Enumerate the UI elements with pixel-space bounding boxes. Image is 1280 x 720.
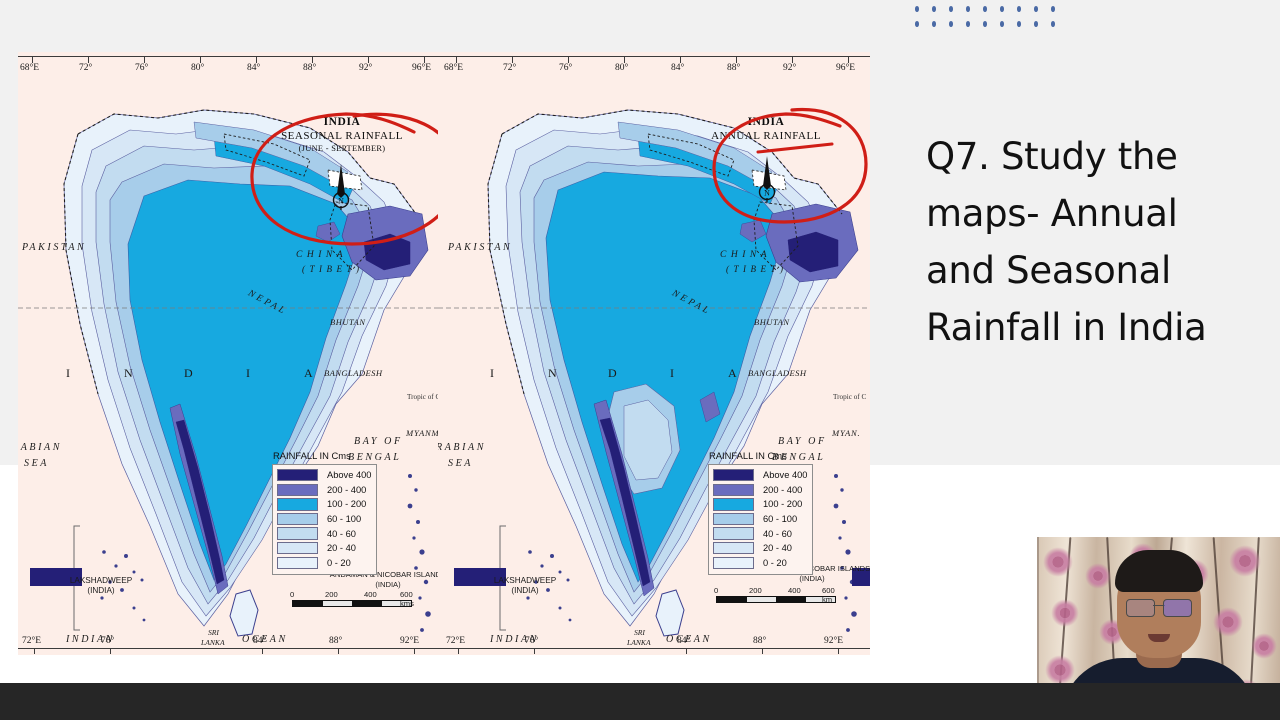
label-sri: SRI <box>208 628 219 637</box>
r-label-india-i1: I <box>490 366 494 381</box>
lon-label-96e: 96°E <box>412 63 431 73</box>
andaman-country: (INDIA) <box>308 580 438 590</box>
label-india-d: D <box>184 366 193 381</box>
label-bay-of: BAY OF <box>354 436 403 447</box>
r-legend-title: RAINFALL IN Cms <box>708 450 813 461</box>
lon-label-80: 80° <box>191 63 204 73</box>
lon-label-84: 84° <box>247 63 260 73</box>
legend-swatch-200-400 <box>277 484 318 496</box>
legend-swatch-60-100 <box>277 513 318 525</box>
r-label-arabian: RABIAN <box>438 442 486 453</box>
legend-seasonal: RAINFALL IN Cms Above 400 200 - 400 100 … <box>272 450 377 575</box>
presentation-screen: Q7. Study the maps- Annual and Seasonal … <box>0 0 1280 720</box>
svg-text:N: N <box>338 197 344 206</box>
annual-rainfall-map: 68°E 72° 76° 80° 84° 88° 92° 96°E <box>438 52 870 655</box>
legend-swatch-40-60 <box>277 527 318 539</box>
lon-label-92: 92° <box>359 63 372 73</box>
scale-bar-seasonal: 0 200 400 600 kms <box>292 590 412 607</box>
map-bottom-border <box>18 648 438 649</box>
r-label-tibet: (TIBET) <box>726 264 788 274</box>
r-label-bay-of: BAY OF <box>778 436 827 447</box>
r-label-india-i2: I <box>670 366 674 381</box>
r-legend-label-40-60: 40 - 60 <box>763 529 792 539</box>
lakshadweep-label: LAKSHADWEEP (INDIA) <box>46 576 156 596</box>
r-legend-swatch-above-400 <box>713 469 754 481</box>
label-tropic-of-cancer: Tropic of C <box>407 393 438 401</box>
scale-tick-200: 200 <box>325 590 338 599</box>
r-label-tropic-of-cancer: Tropic of C <box>833 393 866 401</box>
bot-lon-84: 84° <box>253 636 266 646</box>
r-label-pakistan: PAKISTAN <box>448 242 512 253</box>
r-label-bhutan: BHUTAN <box>754 318 790 327</box>
legend-label-above-400: Above 400 <box>327 470 371 480</box>
right-map-title-line1: INDIA <box>696 116 836 128</box>
legend-label-20-40: 20 - 40 <box>327 543 356 553</box>
legend-label-60-100: 60 - 100 <box>327 514 361 524</box>
label-bhutan: BHUTAN <box>330 318 366 327</box>
right-map-title: INDIA ANNUAL RAINFALL <box>696 116 836 142</box>
label-india-n: N <box>124 366 133 381</box>
bot-lon-76: 76° <box>101 636 114 646</box>
r-lon-label-68e: 68°E <box>444 63 463 73</box>
legend-swatch-100-200 <box>277 498 318 510</box>
north-arrow-icon-right: N <box>756 156 778 202</box>
map-top-border-right <box>438 56 870 57</box>
r-legend-label-20-40: 20 - 40 <box>763 543 792 553</box>
label-lanka: LANKA <box>201 638 225 647</box>
bot-lon-88: 88° <box>329 636 342 646</box>
lon-label-88: 88° <box>303 63 316 73</box>
seasonal-rainfall-map: 68°E 72° 76° 80° 84° 88° 92° 96°E <box>18 52 438 655</box>
map-top-border <box>18 56 438 57</box>
lakshadweep-country: (INDIA) <box>46 586 156 596</box>
r-label-india-n: N <box>548 366 557 381</box>
legend-title: RAINFALL IN Cms <box>272 450 377 461</box>
question-text: Q7. Study the maps- Annual and Seasonal … <box>926 128 1256 356</box>
r-bot-lon-76: 76° <box>525 636 538 646</box>
north-arrow-icon: N <box>330 164 352 210</box>
label-china: CHINA <box>296 250 347 260</box>
scale-bar-annual: 0 200 400 600 km <box>716 586 836 603</box>
legend-swatch-above-400 <box>277 469 318 481</box>
map-bottom-border-right <box>438 648 870 649</box>
lon-label-76: 76° <box>135 63 148 73</box>
glasses-icon <box>1126 599 1192 616</box>
left-map-title-line1: INDIA <box>272 116 412 128</box>
r-legend-swatch-0-20 <box>713 557 754 569</box>
legend-label-40-60: 40 - 60 <box>327 529 356 539</box>
label-sea: SEA <box>24 458 49 469</box>
scale-tick-0: 0 <box>290 590 294 599</box>
r-label-india-a: A <box>728 366 737 381</box>
r-scale-tick-0: 0 <box>714 586 718 595</box>
r-lon-label-76: 76° <box>559 63 572 73</box>
r-legend-swatch-200-400 <box>713 484 754 496</box>
r-lon-label-88: 88° <box>727 63 740 73</box>
r-label-lanka: LANKA <box>627 638 651 647</box>
r-legend-label-0-20: 0 - 20 <box>763 558 787 568</box>
r-legend-swatch-60-100 <box>713 513 754 525</box>
scale-tick-600: 600 kms <box>400 590 414 608</box>
left-map-title-line3: (JUNE - SEPTEMBER) <box>272 144 412 153</box>
r-lon-label-96e: 96°E <box>836 63 855 73</box>
r-lakshadweep-country: (INDIA) <box>470 586 580 596</box>
r-lon-label-84: 84° <box>671 63 684 73</box>
label-bangladesh: BANGLADESH <box>324 368 382 378</box>
r-legend-swatch-100-200 <box>713 498 754 510</box>
r-legend-swatch-40-60 <box>713 527 754 539</box>
left-map-title: INDIA SEASONAL RAINFALL (JUNE - SEPTEMBE… <box>272 116 412 153</box>
r-lon-label-72: 72° <box>503 63 516 73</box>
r-label-sea: SEA <box>448 458 473 469</box>
r-bot-lon-92e: 92°E <box>824 636 843 646</box>
r-lon-label-92: 92° <box>783 63 796 73</box>
r-label-india-d: D <box>608 366 617 381</box>
r-label-china: CHINA <box>720 250 771 260</box>
r-label-sri: SRI <box>634 628 645 637</box>
label-india-a: A <box>304 366 313 381</box>
left-map-title-line2: SEASONAL RAINFALL <box>272 130 412 142</box>
r-legend-label-60-100: 60 - 100 <box>763 514 797 524</box>
lon-label-68e: 68°E <box>20 63 39 73</box>
r-scale-tick-200: 200 <box>749 586 762 595</box>
r-scale-tick-600: 600 km <box>822 586 836 604</box>
legend-swatch-20-40 <box>277 542 318 554</box>
r-legend-label-100-200: 100 - 200 <box>763 499 802 509</box>
bot-lon-72e: 72°E <box>22 636 41 646</box>
r-lakshadweep-name: LAKSHADWEEP <box>470 576 580 586</box>
lon-label-72: 72° <box>79 63 92 73</box>
legend-swatch-0-20 <box>277 557 318 569</box>
r-lakshadweep-label: LAKSHADWEEP (INDIA) <box>470 576 580 596</box>
svg-text:N: N <box>764 189 770 198</box>
label-india-i2: I <box>246 366 250 381</box>
bottom-black-bar <box>0 683 1280 720</box>
label-myanmar: MYANM. <box>406 428 438 438</box>
label-tibet: (TIBET) <box>302 264 364 274</box>
label-arabian: RABIAN <box>18 442 62 453</box>
r-lon-label-80: 80° <box>615 63 628 73</box>
label-pakistan: PAKISTAN <box>22 242 86 253</box>
decorative-dots <box>915 6 1055 34</box>
r-legend-swatch-20-40 <box>713 542 754 554</box>
r-scale-tick-400: 400 <box>788 586 801 595</box>
scale-tick-400: 400 <box>364 590 377 599</box>
legend-label-100-200: 100 - 200 <box>327 499 366 509</box>
bot-lon-92e: 92°E <box>400 636 419 646</box>
r-label-bangladesh: BANGLADESH <box>748 368 806 378</box>
rainfall-maps-image: 68°E 72° 76° 80° 84° 88° 92° 96°E <box>18 52 870 655</box>
presenter-hair <box>1115 550 1203 592</box>
r-bot-lon-72e: 72°E <box>446 636 465 646</box>
label-india-i1: I <box>66 366 70 381</box>
legend-annual: RAINFALL IN Cms Above 400 200 - 400 100 … <box>708 450 813 575</box>
legend-label-200-400: 200 - 400 <box>327 485 366 495</box>
r-bot-lon-84: 84° <box>677 636 690 646</box>
r-legend-label-above-400: Above 400 <box>763 470 807 480</box>
lakshadweep-name: LAKSHADWEEP <box>46 576 156 586</box>
r-bot-lon-88: 88° <box>753 636 766 646</box>
r-label-myanmar: MYAN. <box>832 428 860 438</box>
right-map-title-line2: ANNUAL RAINFALL <box>696 130 836 142</box>
legend-label-0-20: 0 - 20 <box>327 558 351 568</box>
r-legend-label-200-400: 200 - 400 <box>763 485 802 495</box>
